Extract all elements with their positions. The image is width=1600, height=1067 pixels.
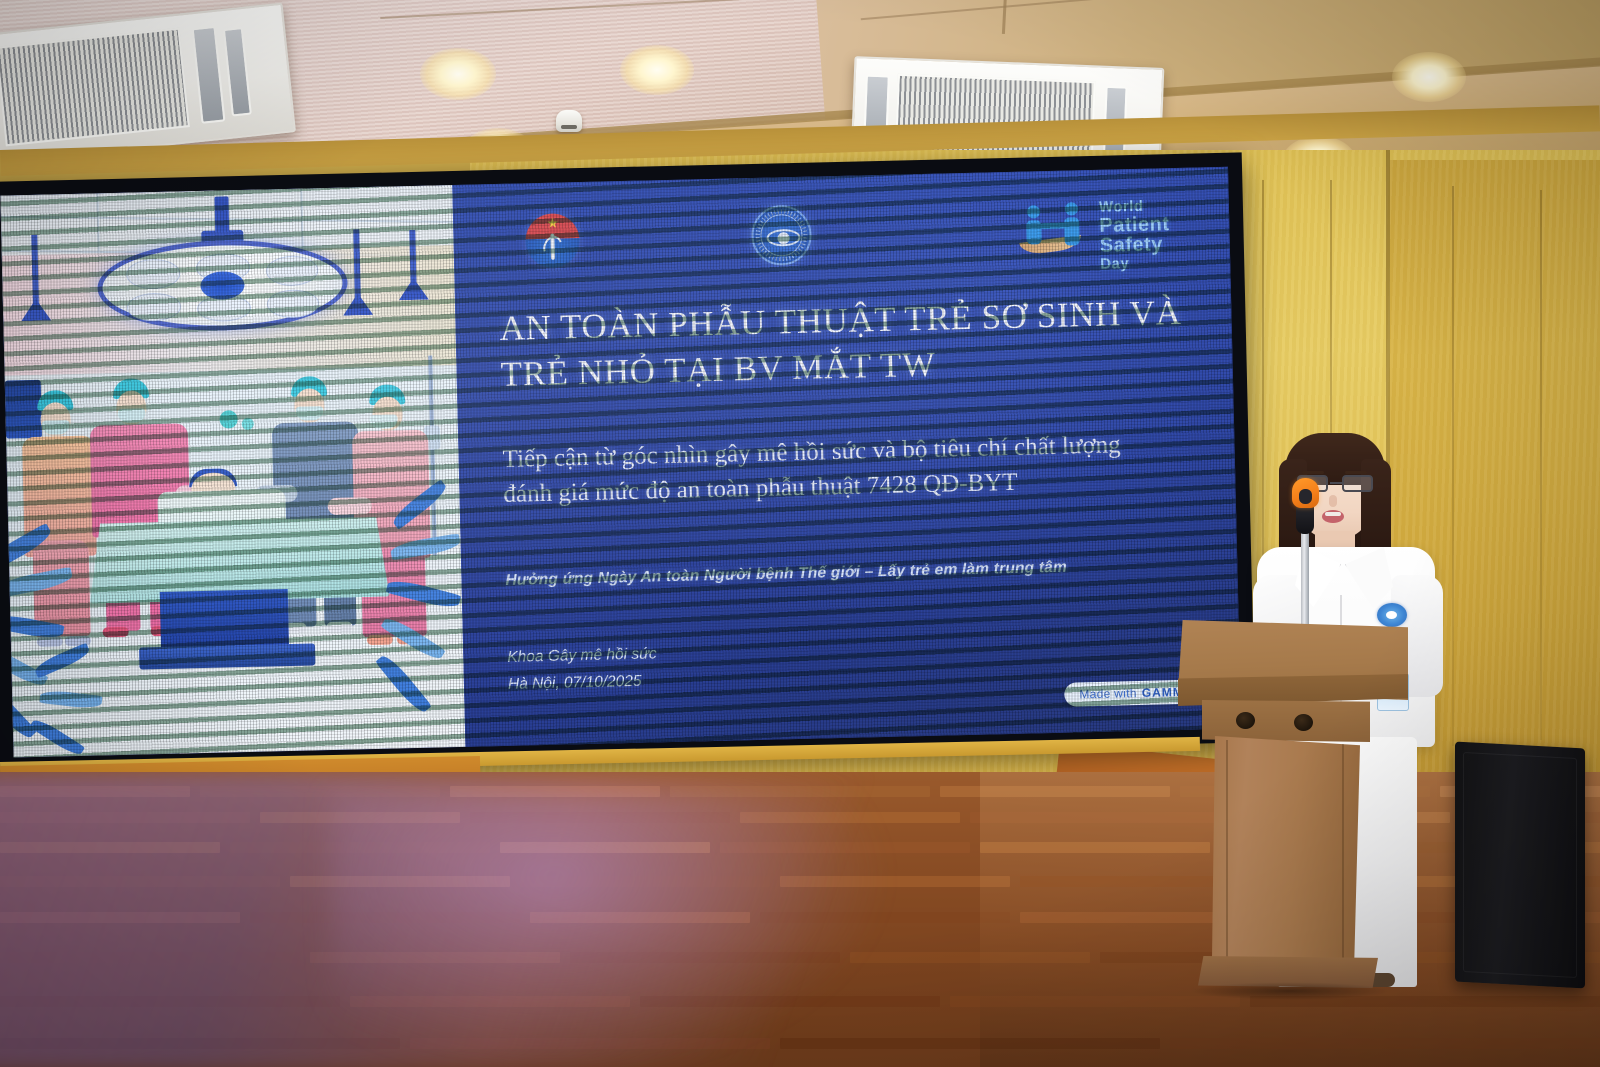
leaf — [0, 679, 37, 742]
eyebrow-right — [1345, 471, 1367, 474]
figure-body — [1026, 220, 1042, 244]
microphone-icon[interactable] — [1292, 478, 1319, 508]
wall-panel-seam — [1540, 190, 1542, 740]
shoe-icon — [326, 621, 352, 632]
wpsd-line-2: Patient Safety — [1099, 212, 1224, 257]
figure-arm — [1040, 223, 1066, 230]
floor-screen-reflection — [330, 792, 890, 1067]
conference-hall-photo: World Patient Safety Day AN TOÀN PHẪU TH… — [0, 0, 1600, 1067]
podium-panel-line — [1226, 740, 1228, 962]
wpsd-logo-text: World Patient Safety Day — [1099, 197, 1225, 273]
anesthesia-canister-icon — [219, 410, 237, 428]
light-petal — [196, 253, 251, 282]
leaf — [39, 689, 102, 710]
podium-hole — [1294, 714, 1313, 731]
podium-column — [1212, 736, 1360, 968]
floor-loudspeaker — [1455, 742, 1585, 989]
slide-footer: Khoa Gây mê hồi sức Hà Nội, 07/10/2025 — [507, 634, 908, 698]
nose — [1329, 495, 1337, 507]
eyebrow-left — [1302, 471, 1324, 474]
leaf — [29, 716, 85, 757]
leaf — [375, 652, 432, 716]
operating-table-foot — [139, 643, 315, 669]
slide-tagline: Hưởng ứng Ngày An toàn Người bệnh Thế gi… — [505, 555, 1205, 589]
podium-shadow — [1190, 982, 1390, 1000]
slide-text-panel: World Patient Safety Day AN TOÀN PHẪU TH… — [452, 167, 1241, 747]
slide-title: AN TOÀN PHẪU THUẬT TRẺ SƠ SINH VÀ TRẺ NH… — [499, 289, 1201, 396]
podium-hole — [1236, 712, 1255, 729]
light-petal — [127, 292, 182, 321]
podium-neck — [1202, 700, 1370, 742]
anesthesia-canister-icon — [242, 418, 254, 430]
slide-illustration — [0, 185, 465, 757]
ceiling-lamp-stem — [409, 230, 416, 286]
shoe-icon — [103, 627, 129, 638]
led-display-screen[interactable]: World Patient Safety Day AN TOÀN PHẪU TH… — [0, 152, 1256, 771]
staff-arm — [328, 497, 372, 515]
ac-air-slot — [192, 26, 226, 124]
world-patient-safety-day-logo-icon: World Patient Safety Day — [1013, 197, 1224, 258]
mouth — [1322, 510, 1344, 523]
wpsd-line-3: Day — [1100, 254, 1224, 273]
lens-right — [1342, 475, 1373, 492]
screen-content-area: World Patient Safety Day AN TOÀN PHẪU TH… — [0, 167, 1241, 758]
light-petal — [266, 255, 319, 286]
glasses-bridge — [1330, 482, 1342, 484]
recessed-downlight — [420, 48, 496, 100]
slide-subtitle: Tiếp cận từ góc nhìn gây mê hồi sức và b… — [502, 426, 1163, 512]
figure-body — [1064, 217, 1080, 245]
eye-hospital-emblem-icon — [751, 205, 812, 266]
light-petal — [267, 289, 320, 318]
ac-air-slot — [223, 27, 252, 117]
slide-logo-row: World Patient Safety Day — [513, 196, 1194, 272]
figure-head — [1065, 202, 1078, 215]
shoe-icon — [37, 636, 63, 647]
podium-panel-line — [1342, 742, 1344, 962]
recessed-downlight — [1392, 52, 1466, 102]
recessed-downlight — [620, 45, 694, 95]
vietnam-ministry-of-health-emblem-icon — [525, 213, 580, 268]
ac-support-rod — [1002, 0, 1007, 34]
light-petal — [197, 295, 252, 322]
ceiling-seam — [861, 0, 1280, 20]
ac-grille — [0, 28, 190, 147]
wooden-podium — [1160, 604, 1410, 1004]
badge-prefix: Made with — [1079, 686, 1137, 701]
leaf — [33, 643, 92, 679]
figure-head — [1027, 205, 1040, 218]
shoe-icon — [367, 635, 393, 646]
smoke-detector — [556, 110, 582, 132]
light-petal — [126, 258, 181, 289]
vital-monitor-icon — [5, 380, 42, 439]
